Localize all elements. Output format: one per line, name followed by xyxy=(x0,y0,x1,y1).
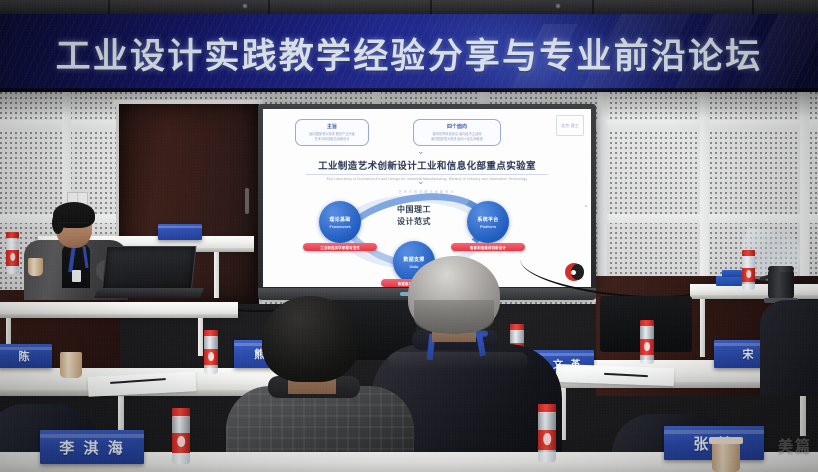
water-bottle[interactable] xyxy=(6,232,19,274)
slide-center-label: 中国理工 设计范式 xyxy=(381,204,447,227)
presenter-glasses xyxy=(58,222,89,229)
ceiling-light xyxy=(556,4,560,8)
blue-box xyxy=(722,270,742,277)
slide-center-line-1: 中国理工 xyxy=(381,204,447,216)
slide-heading: 工业制造艺术创新设计工业和信息化部重点实验室 Key Laboratory of… xyxy=(263,158,591,181)
water-bottle[interactable] xyxy=(640,320,654,364)
conference-photo: 工业设计实践教学经验分享与专业前沿论坛 北京 理工 主旨 面向国家重大需求 服务… xyxy=(0,0,818,472)
placard-back-left: 陈 xyxy=(0,344,52,368)
slide-pill-framework: 工业制造美学原理与范式 xyxy=(303,243,377,251)
event-banner: 工业设计实践教学经验分享与专业前沿论坛 xyxy=(0,14,818,92)
electric-kettle[interactable] xyxy=(768,270,794,300)
water-bottle[interactable] xyxy=(742,250,755,290)
ceiling-light xyxy=(243,4,247,8)
slide-node-framework: 理论基础 Framework xyxy=(319,201,361,243)
slide-topbox-1-title: 主旨 xyxy=(327,123,337,130)
watermark: 美篇 xyxy=(778,435,812,456)
placard-speaker-table xyxy=(158,224,202,240)
slide-node-framework-en: Framework xyxy=(329,224,350,229)
audience-1-head xyxy=(262,296,358,382)
paper-cup[interactable] xyxy=(60,352,82,378)
chevron-down-icon: ⌄ xyxy=(417,147,425,156)
placard-back-right-name: 宋 xyxy=(743,346,756,362)
presenter-badge xyxy=(72,270,81,282)
kettle-lid[interactable] xyxy=(768,266,794,272)
slide-center-line-2: 设计范式 xyxy=(381,216,447,228)
table-leg xyxy=(198,318,203,356)
slide-heading-en: Key Laboratory of Innovative Art and Des… xyxy=(263,177,591,181)
cup-lid[interactable] xyxy=(709,437,743,444)
door-handle[interactable] xyxy=(245,188,249,214)
slide-edge-dot xyxy=(585,205,587,207)
slide-node-platform: 系统平台 Platform xyxy=(467,201,509,243)
slide-node-data-cn: 数据支撑 xyxy=(403,256,424,263)
slide-node-data-en: Data xyxy=(410,264,419,269)
slide-node-framework-cn: 理论基础 xyxy=(329,216,350,223)
water-bottle[interactable] xyxy=(204,330,218,374)
chevron-down-icon-2: ⌄ xyxy=(417,177,425,186)
slide-corner-logo: 北京 理工 xyxy=(556,115,584,136)
slide-topbox-1: 主旨 面向国家重大需求 服务产业升级 艺术与科技融合创新设计 xyxy=(295,119,369,146)
slide-topbox-2-title: 四个面向 xyxy=(447,123,467,130)
audience-6-torso xyxy=(760,300,818,396)
placard-front-left-name: 李 淇 海 xyxy=(59,437,124,458)
slide-topbox-2-line-2: 面向国家重大需求 面向人民生命健康 xyxy=(431,137,483,142)
placard-front-left: 李 淇 海 xyxy=(40,430,144,464)
banner-title: 工业设计实践教学经验分享与专业前沿论坛 xyxy=(0,14,818,92)
slide-topbox-2: 四个面向 面向世界科技前沿 面向经济主战场 面向国家重大需求 面向人民生命健康 xyxy=(413,119,501,146)
slide-node-platform-en: Platform xyxy=(480,224,496,229)
slide-pill-platform: 智能制造集成创新设计 xyxy=(451,243,525,251)
table-leg xyxy=(700,299,705,357)
paper-cup[interactable] xyxy=(28,258,43,276)
placard-back-left-name: 陈 xyxy=(19,348,32,364)
blue-box xyxy=(716,276,742,286)
water-bottle[interactable] xyxy=(538,404,556,462)
slide-topbox-1-line-2: 艺术与科技融合创新设计 xyxy=(314,137,349,142)
laptop-screen[interactable] xyxy=(102,246,197,292)
water-bottle[interactable] xyxy=(172,408,190,464)
slide-node-platform-cn: 系统平台 xyxy=(477,216,498,223)
paper-cup[interactable] xyxy=(712,440,740,472)
slide-corner-logo-text: 北京 理工 xyxy=(561,123,579,128)
second-row-table xyxy=(0,302,238,314)
slide-heading-cn: 工业制造艺术创新设计工业和信息化部重点实验室 xyxy=(263,158,591,172)
